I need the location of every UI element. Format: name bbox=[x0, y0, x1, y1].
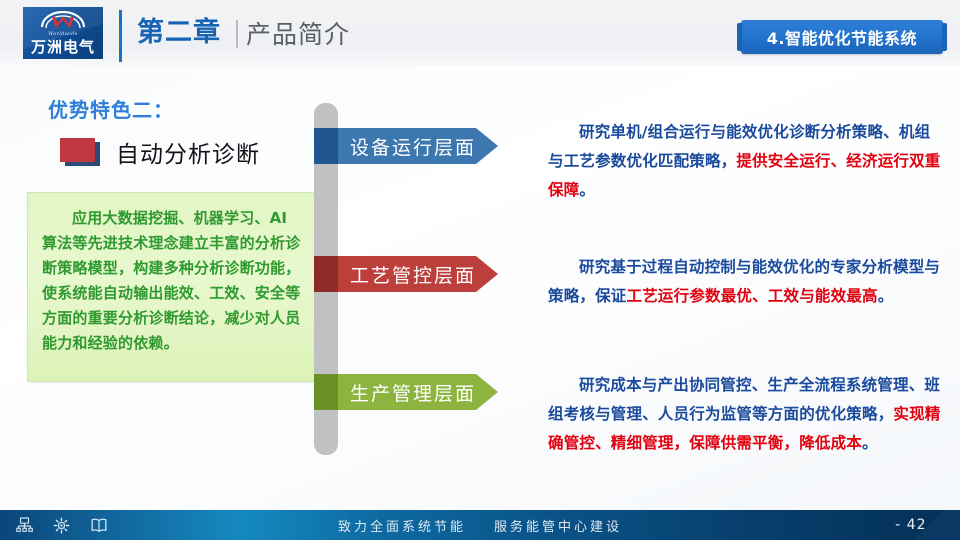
arrow-head bbox=[476, 128, 498, 164]
logo-english-name: Worldwide bbox=[23, 31, 103, 37]
slide: Worldwide 万洲电气 第二章 产品简介 4.智能优化节能系统 优势特色二… bbox=[0, 0, 960, 540]
arrow-tail bbox=[314, 256, 338, 292]
body-text: 。 bbox=[579, 181, 595, 199]
level-description-equipment: 研究单机/组合运行与能效优化诊断分析策略、机组与工艺参数优化匹配策略，提供安全运… bbox=[548, 118, 944, 205]
topic-badge-label: 4.智能优化节能系统 bbox=[767, 25, 917, 49]
company-logo: Worldwide 万洲电气 bbox=[23, 7, 103, 59]
header-divider bbox=[119, 10, 122, 62]
feature-name: 自动分析诊断 bbox=[116, 135, 260, 169]
feature-heading: 优势特色二： bbox=[48, 94, 174, 123]
topic-badge: 4.智能优化节能系统 bbox=[741, 20, 943, 54]
worldwide-w-logo-icon bbox=[40, 11, 86, 31]
body-text: 。 bbox=[878, 287, 894, 305]
header-thin-separator bbox=[236, 20, 238, 48]
level-label: 生产管理层面 bbox=[350, 379, 476, 406]
footer-slogan: 致力全面系统节能 服务能管中心建设 bbox=[0, 510, 960, 540]
arrow-body: 工艺管控层面 bbox=[338, 256, 476, 292]
level-arrow-production[interactable]: 生产管理层面 bbox=[314, 374, 498, 410]
level-label: 工艺管控层面 bbox=[350, 261, 476, 288]
arrow-head bbox=[476, 256, 498, 292]
level-arrow-process[interactable]: 工艺管控层面 bbox=[314, 256, 498, 292]
arrow-tail bbox=[314, 128, 338, 164]
footer-slogan-right: 服务能管中心建设 bbox=[494, 516, 622, 535]
page-title: 产品简介 bbox=[246, 18, 350, 52]
slide-footer: 致力全面系统节能 服务能管中心建设 - 42 - bbox=[0, 510, 960, 540]
footer-corner-decoration bbox=[906, 510, 960, 540]
level-label: 设备运行层面 bbox=[350, 133, 476, 160]
description-text: 应用大数据挖掘、机器学习、AI算法等先进技术理念建立丰富的分析诊断策略模型，构建… bbox=[28, 193, 316, 356]
arrow-head bbox=[476, 374, 498, 410]
body-text: 研究成本与产出协同管控、生产全流程系统管理、班组考核与管理、人员行为监管等方面的… bbox=[548, 376, 940, 423]
level-description-process: 研究基于过程自动控制与能效优化的专家分析模型与策略，保证工艺运行参数最优、工效与… bbox=[548, 253, 944, 311]
arrow-body: 生产管理层面 bbox=[338, 374, 476, 410]
arrow-body: 设备运行层面 bbox=[338, 128, 476, 164]
body-text: 。 bbox=[862, 434, 878, 452]
description-callout: 应用大数据挖掘、机器学习、AI算法等先进技术理念建立丰富的分析诊断策略模型，构建… bbox=[27, 192, 317, 382]
arrow-tail bbox=[314, 374, 338, 410]
slide-header: Worldwide 万洲电气 第二章 产品简介 4.智能优化节能系统 bbox=[0, 0, 960, 66]
feature-name-row: 自动分析诊断 bbox=[60, 135, 260, 169]
highlighted-text: 工艺运行参数最优、工效与能效最高 bbox=[627, 287, 878, 305]
footer-slogan-left: 致力全面系统节能 bbox=[338, 516, 466, 535]
logo-chinese-name: 万洲电气 bbox=[23, 38, 103, 57]
chapter-label: 第二章 bbox=[137, 16, 221, 50]
level-arrow-equipment[interactable]: 设备运行层面 bbox=[314, 128, 498, 164]
red-square-bullet-icon bbox=[60, 138, 100, 166]
level-description-production: 研究成本与产出协同管控、生产全流程系统管理、班组考核与管理、人员行为监管等方面的… bbox=[548, 371, 944, 458]
